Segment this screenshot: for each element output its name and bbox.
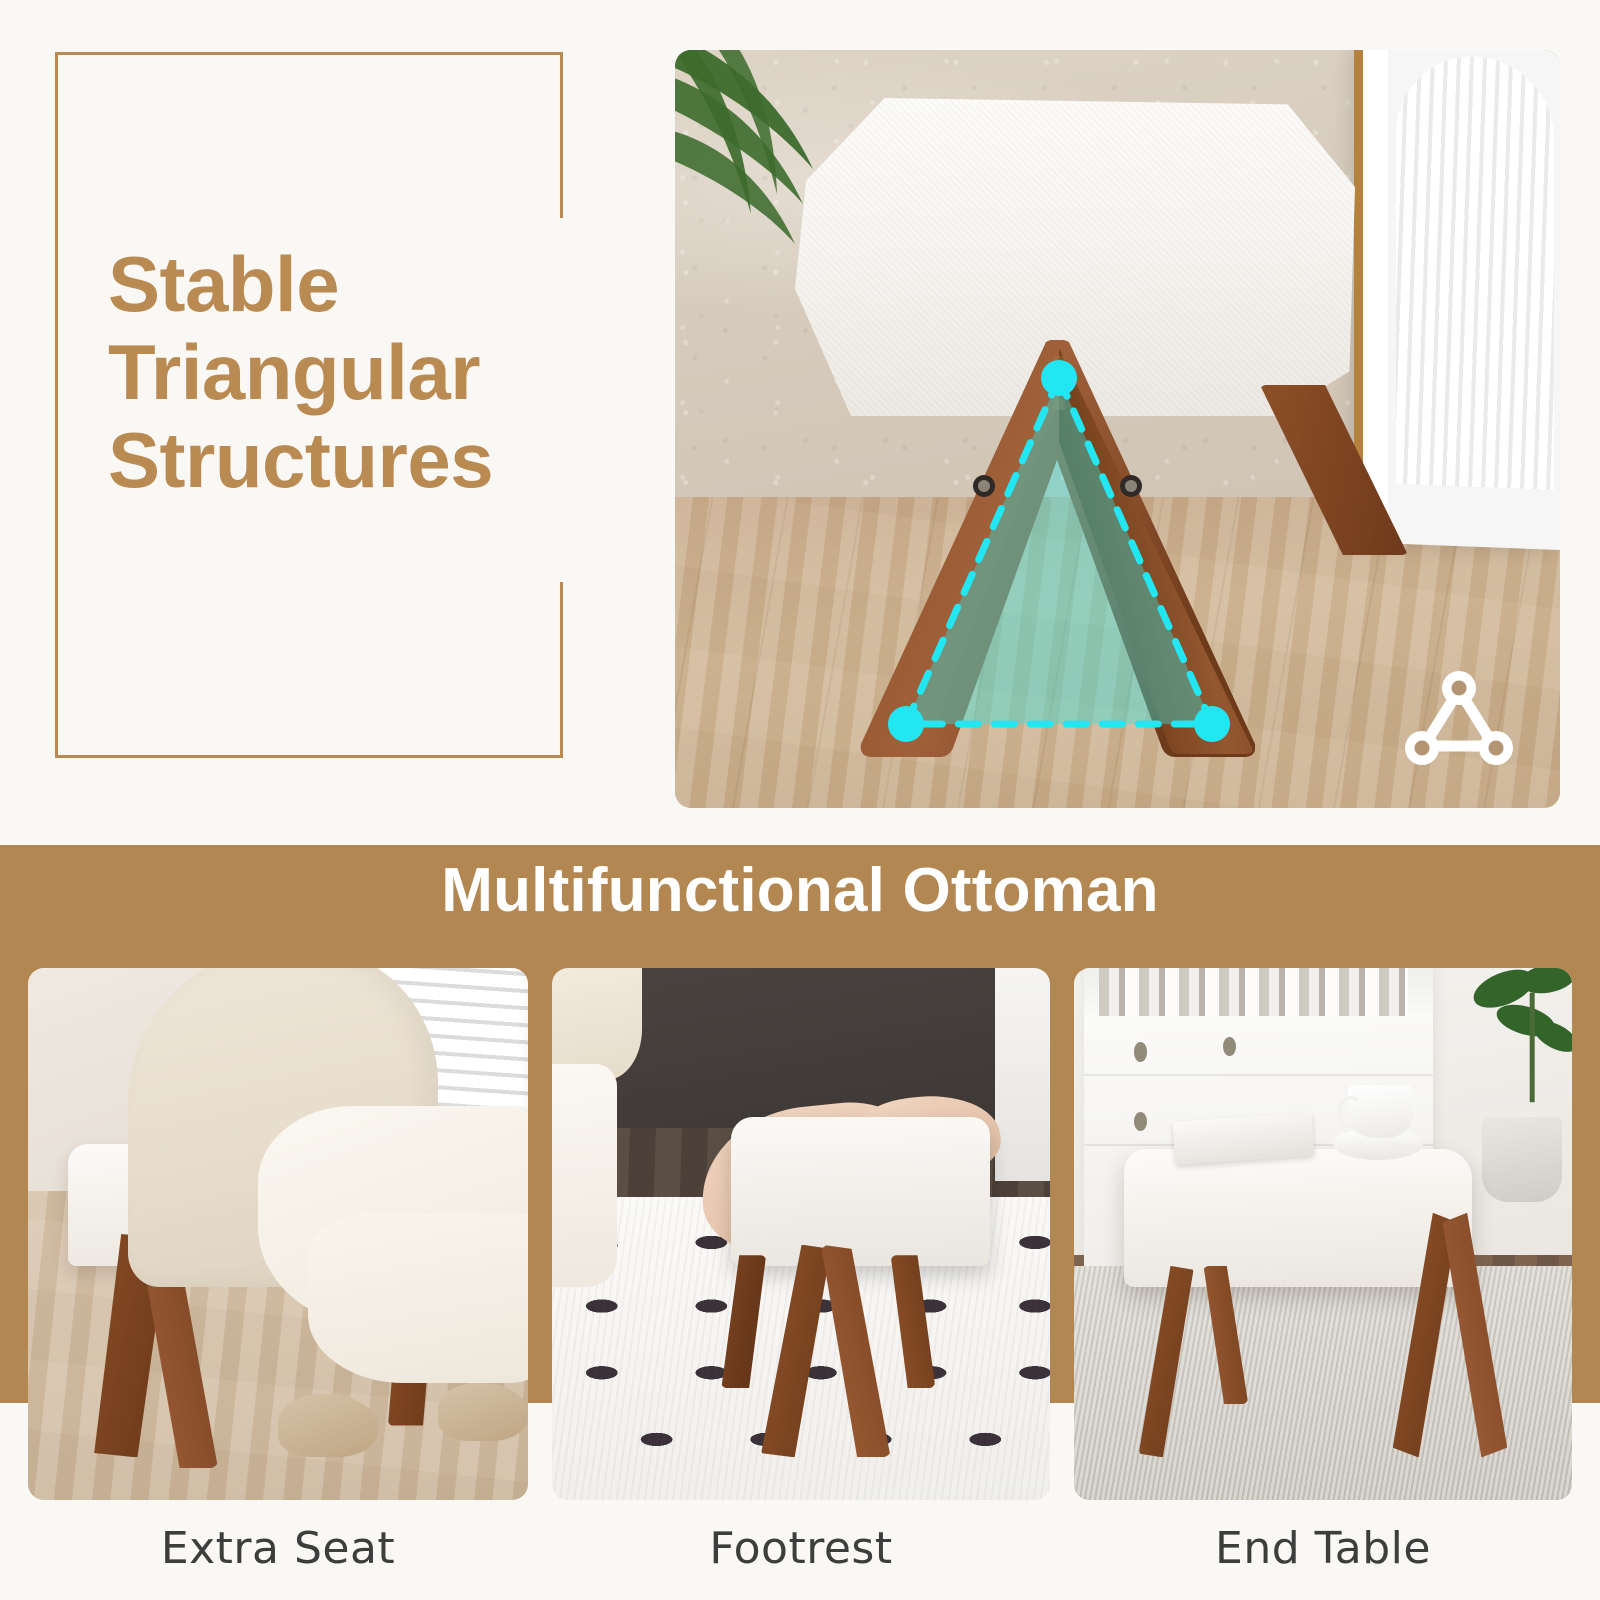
leaning-mirror: [1354, 50, 1560, 550]
triangle-vertex-top: [1041, 360, 1077, 396]
use-case-photo-end-table: [1074, 968, 1572, 1500]
p2-ottoman-cushion: [731, 1117, 990, 1266]
frame-line-left: [55, 52, 58, 758]
hero-photo-triangular-structure: [675, 50, 1560, 808]
hero-section: Stable Triangular Structures: [0, 0, 1600, 845]
use-case-photo-row: [0, 968, 1600, 1500]
p3-cup-handle: [1338, 1096, 1363, 1128]
product-feature-page: Stable Triangular Structures: [0, 0, 1600, 1600]
p2-person-knee: [552, 968, 642, 1080]
headline-line-1: Stable: [108, 240, 708, 328]
potted-plant-icon: [1452, 968, 1572, 1138]
banner-title: Multifunctional Ottoman: [0, 855, 1600, 926]
p1-person-pants-lower: [308, 1213, 528, 1383]
p2-person-clothing: [552, 1064, 617, 1287]
p3-drawer-knob-3: [1134, 1112, 1147, 1131]
frame-line-right-lower: [560, 582, 563, 758]
p1-person-shoe-left: [278, 1394, 378, 1458]
triangle-vertex-left: [888, 706, 924, 742]
p3-drawer-seam-top: [1084, 1074, 1433, 1076]
hero-headline: Stable Triangular Structures: [108, 240, 708, 504]
caption-footrest: Footrest: [552, 1508, 1050, 1588]
use-case-caption-row: Extra Seat Footrest End Table: [0, 1508, 1600, 1588]
triangle-vertex-right: [1194, 706, 1230, 742]
p3-woven-rug: [1074, 1266, 1572, 1500]
frame-line-bottom: [55, 755, 563, 758]
p3-books-on-shelf: [1099, 968, 1408, 1016]
headline-line-2: Triangular: [108, 328, 708, 416]
use-case-photo-extra-seat: [28, 968, 528, 1500]
triangle-highlight-overlay: [860, 338, 1258, 762]
use-case-photo-footrest: [552, 968, 1050, 1500]
frame-line-top: [55, 52, 563, 55]
p3-drawer-knob-1: [1134, 1042, 1147, 1061]
headline-line-3: Structures: [108, 416, 708, 504]
triangle-truss-icon: [1400, 666, 1518, 770]
caption-end-table: End Table: [1074, 1508, 1572, 1588]
caption-extra-seat: Extra Seat: [28, 1508, 528, 1588]
p1-person-shoe-right: [438, 1383, 528, 1442]
frame-line-right-upper: [560, 52, 563, 218]
p2-white-door-edge: [995, 968, 1050, 1181]
p3-ottoman-cushion: [1124, 1149, 1473, 1287]
